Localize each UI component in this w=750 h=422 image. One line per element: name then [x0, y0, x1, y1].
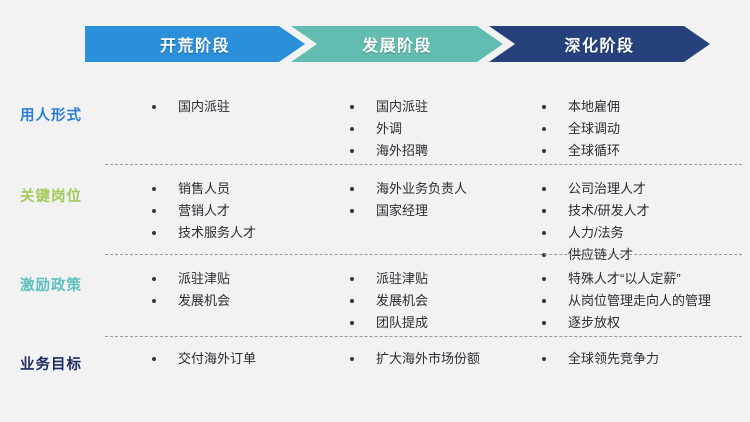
bullet-list: 派驻津贴 发展机会	[150, 270, 230, 310]
list-item: 全球调动	[540, 120, 620, 138]
list-item: 发展机会	[150, 292, 230, 310]
phase-chevron-3[interactable]: 深化阶段	[489, 26, 710, 62]
bullet-list: 全球领先竞争力	[540, 350, 659, 368]
bullet-list: 公司治理人才 技术/研发人才 人力/法务 供应链人才	[540, 180, 650, 264]
row-label-employment-form: 用人形式	[20, 104, 82, 125]
list-item: 技术服务人才	[150, 224, 256, 242]
list-item: 全球循环	[540, 142, 620, 160]
bullet-list: 销售人员 营销人才 技术服务人才	[150, 180, 256, 242]
list-item: 派驻津贴	[150, 270, 230, 288]
cell-r2-c2: 海外业务负责人 国家经理	[348, 180, 467, 224]
list-item: 逐步放权	[540, 314, 711, 332]
phase-label-2: 发展阶段	[362, 32, 432, 56]
row-divider-3	[105, 336, 742, 337]
row-label-key-positions: 关键岗位	[20, 185, 82, 206]
list-item: 团队提成	[348, 314, 428, 332]
phase-chevron-2[interactable]: 发展阶段	[291, 26, 503, 62]
cell-r1-c1: 国内派驻	[150, 98, 230, 120]
list-item: 营销人才	[150, 202, 256, 220]
cell-r2-c1: 销售人员 营销人才 技术服务人才	[150, 180, 256, 246]
list-item: 本地雇佣	[540, 98, 620, 116]
bullet-list: 本地雇佣 全球调动 全球循环	[540, 98, 620, 160]
list-item: 国内派驻	[348, 98, 428, 116]
list-item: 派驻津贴	[348, 270, 428, 288]
list-item: 外调	[348, 120, 428, 138]
bullet-list: 派驻津贴 发展机会 团队提成	[348, 270, 428, 332]
slide-canvas: 开荒阶段 发展阶段 深化阶段 用人形式 国内派驻 国内派驻 外调 海外招聘 本地…	[0, 0, 750, 422]
phase-label-3: 深化阶段	[564, 32, 634, 56]
list-item: 特殊人才“以人定薪”	[540, 270, 711, 288]
list-item: 国家经理	[348, 202, 467, 220]
cell-r1-c3: 本地雇佣 全球调动 全球循环	[540, 98, 620, 164]
list-item: 人力/法务	[540, 224, 650, 242]
row-label-incentive-policy: 激励政策	[20, 274, 82, 295]
list-item: 扩大海外市场份额	[348, 350, 480, 368]
cell-r4-c3: 全球领先竞争力	[540, 350, 659, 372]
bullet-list: 国内派驻 外调 海外招聘	[348, 98, 428, 160]
list-item: 交付海外订单	[150, 350, 256, 368]
row-divider-2	[105, 254, 742, 255]
bullet-list: 国内派驻	[150, 98, 230, 116]
row-divider-1	[105, 164, 742, 165]
list-item: 销售人员	[150, 180, 256, 198]
row-label-business-goal: 业务目标	[20, 353, 82, 374]
list-item: 海外业务负责人	[348, 180, 467, 198]
list-item: 供应链人才	[540, 246, 650, 264]
bullet-list: 特殊人才“以人定薪” 从岗位管理走向人的管理 逐步放权	[540, 270, 711, 332]
cell-r4-c1: 交付海外订单	[150, 350, 256, 372]
bullet-list: 扩大海外市场份额	[348, 350, 480, 368]
list-item: 国内派驻	[150, 98, 230, 116]
list-item: 海外招聘	[348, 142, 428, 160]
bullet-list: 海外业务负责人 国家经理	[348, 180, 467, 220]
list-item: 公司治理人才	[540, 180, 650, 198]
phase-chevron-1[interactable]: 开荒阶段	[85, 26, 305, 62]
list-item: 全球领先竞争力	[540, 350, 659, 368]
phase-label-1: 开荒阶段	[160, 32, 230, 56]
list-item: 技术/研发人才	[540, 202, 650, 220]
phase-banner: 开荒阶段 发展阶段 深化阶段	[85, 26, 710, 62]
list-item: 从岗位管理走向人的管理	[540, 292, 711, 310]
cell-r4-c2: 扩大海外市场份额	[348, 350, 480, 372]
cell-r3-c1: 派驻津贴 发展机会	[150, 270, 230, 314]
cell-r3-c3: 特殊人才“以人定薪” 从岗位管理走向人的管理 逐步放权	[540, 270, 711, 336]
cell-r1-c2: 国内派驻 外调 海外招聘	[348, 98, 428, 164]
list-item: 发展机会	[348, 292, 428, 310]
cell-r3-c2: 派驻津贴 发展机会 团队提成	[348, 270, 428, 336]
bullet-list: 交付海外订单	[150, 350, 256, 368]
